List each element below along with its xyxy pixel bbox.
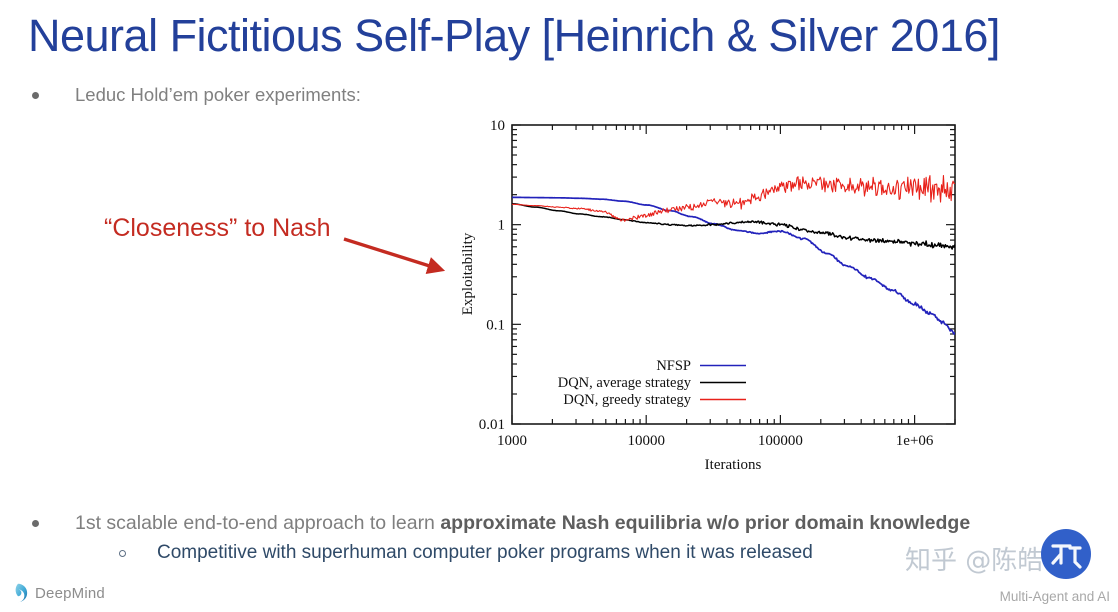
chart-y-axis-label: Exploitability	[460, 232, 476, 315]
chart-x-tick: 10000	[627, 433, 665, 449]
bullet-scalable-prefix: 1st scalable end-to-end approach to lear…	[75, 512, 440, 534]
bullet-marker-icon	[32, 520, 39, 527]
footer-right-label: Multi-Agent and AI	[1000, 589, 1110, 604]
chart-x-tick-labels: 1000100001000001e+06	[497, 433, 934, 449]
bullet-scalable-emphasis: approximate Nash equilibria w/o prior do…	[440, 512, 970, 534]
deepmind-swirl-icon	[8, 583, 28, 603]
deepmind-wordmark: DeepMind	[35, 585, 105, 602]
deepmind-logo: DeepMind	[8, 583, 105, 603]
bullet-leduc-label: Leduc Hold’em poker experiments:	[75, 83, 361, 107]
chart-y-tick: 1	[498, 218, 506, 234]
chart-x-tick: 1e+06	[896, 433, 934, 449]
closeness-annotation-label: “Closeness” to Nash	[104, 214, 330, 243]
zhihu-badge-icon	[1040, 528, 1092, 580]
page-title: Neural Fictitious Self-Play [Heinrich & …	[28, 8, 1088, 64]
zhihu-watermark-text: 知乎 @陈皓	[905, 540, 1043, 577]
bullet-leduc-experiments: Leduc Hold’em poker experiments:	[32, 83, 361, 107]
chart-legend-label-3: DQN, greedy strategy	[563, 392, 691, 408]
closeness-arrow-icon	[330, 228, 460, 288]
chart-y-tick: 0.1	[486, 317, 505, 333]
chart-legend-label-1: NFSP	[656, 358, 691, 374]
exploitability-chart: 0.010.1110 1000100001000001e+06 NFSPDQN,…	[456, 112, 976, 480]
bullet-marker-icon	[32, 92, 39, 99]
chart-y-tick-labels: 0.010.1110	[479, 118, 505, 433]
sub-bullet-marker-icon	[119, 550, 126, 557]
chart-y-tick: 0.01	[479, 417, 505, 433]
zhihu-watermark: 知乎 @陈皓	[905, 540, 1043, 577]
chart-y-tick: 10	[490, 118, 505, 134]
chart-legend-label-2: DQN, average strategy	[558, 375, 692, 391]
chart-x-tick: 100000	[758, 433, 803, 449]
bullet-competitive-programs: Competitive with superhuman computer pok…	[119, 541, 813, 565]
chart-x-tick: 1000	[497, 433, 527, 449]
bullet-scalable-label: 1st scalable end-to-end approach to lear…	[75, 511, 970, 535]
bullet-competitive-label: Competitive with superhuman computer pok…	[157, 541, 813, 565]
chart-x-axis-label: Iterations	[705, 457, 762, 473]
bullet-scalable-approach: 1st scalable end-to-end approach to lear…	[32, 511, 970, 535]
